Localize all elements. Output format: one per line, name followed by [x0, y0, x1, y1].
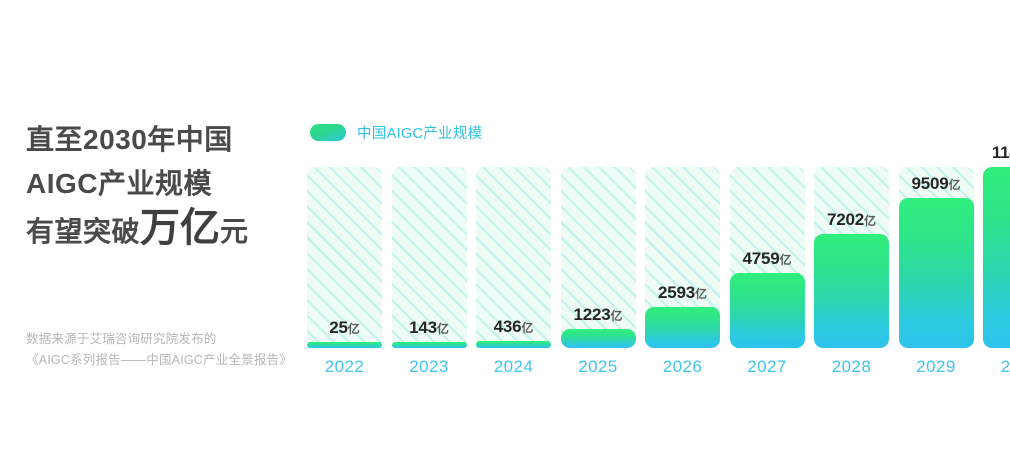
bar-column[interactable]: 11441亿2030 [983, 167, 1010, 348]
bar-column[interactable]: 1223亿2025 [561, 167, 636, 348]
headline-line-2: AIGC产业规模 [26, 162, 306, 206]
bar-chart-plot: 25亿2022143亿2023436亿20241223亿20252593亿202… [307, 110, 987, 382]
headline-block: 直至2030年中国 AIGC产业规模 有望突破万亿元 [26, 118, 306, 254]
bar-value-number: 436 [494, 317, 522, 336]
bar-value-label: 1223亿 [573, 306, 622, 323]
bar-value-number: 7202 [827, 210, 864, 229]
bar-fill[interactable] [392, 342, 467, 348]
headline-line-3-suffix: 元 [220, 216, 249, 247]
headline-line-3-prefix: 有望突破 [26, 216, 140, 247]
bar-value-label: 2593亿 [658, 284, 707, 301]
headline-line-3-emphasis: 万亿 [140, 206, 220, 250]
bar-value-unit: 亿 [348, 322, 360, 336]
axis-year-label: 2030 [1001, 357, 1010, 377]
bar-value-unit: 亿 [780, 253, 792, 267]
bar-value-unit: 亿 [949, 178, 961, 192]
bar-value-number: 1223 [573, 305, 610, 324]
bar-value-unit: 亿 [864, 214, 876, 228]
bar-value-unit: 亿 [695, 287, 707, 301]
bar-value-unit: 亿 [611, 309, 623, 323]
bar-value-number: 143 [409, 318, 437, 337]
source-note: 数据来源于艾瑞咨询研究院发布的 《AIGC系列报告——中国AIGC产业全景报告》 [26, 329, 316, 371]
aigc-market-size-infographic: 直至2030年中国 AIGC产业规模 有望突破万亿元 数据来源于艾瑞咨询研究院发… [0, 0, 1010, 450]
bar-fill[interactable] [899, 198, 974, 348]
bar-value-label: 143亿 [409, 319, 449, 336]
axis-year-label: 2029 [916, 357, 955, 377]
bar-value-number: 2593 [658, 283, 695, 302]
bar-fill[interactable] [645, 307, 720, 348]
bar-fill[interactable] [476, 341, 551, 348]
bar-value-label: 436亿 [494, 318, 534, 335]
axis-year-label: 2026 [663, 357, 702, 377]
source-note-line-1: 数据来源于艾瑞咨询研究院发布的 [26, 329, 316, 350]
bar-fill[interactable] [730, 273, 805, 348]
axis-year-label: 2022 [325, 357, 364, 377]
bar-fill[interactable] [307, 342, 382, 348]
bar-column[interactable]: 25亿2022 [307, 167, 382, 348]
bar-value-label: 11441亿 [992, 144, 1010, 161]
bar-fill[interactable] [814, 234, 889, 348]
axis-year-label: 2024 [494, 357, 533, 377]
axis-year-label: 2025 [578, 357, 617, 377]
axis-year-label: 2027 [747, 357, 786, 377]
bar-fill[interactable] [561, 329, 636, 348]
bar-value-label: 25亿 [329, 319, 360, 336]
bar-value-label: 9509亿 [911, 175, 960, 192]
bar-value-number: 4759 [742, 249, 779, 268]
axis-year-label: 2023 [409, 357, 448, 377]
headline-line-1: 直至2030年中国 [26, 118, 306, 162]
bar-value-label: 7202亿 [827, 211, 876, 228]
headline-line-3: 有望突破万亿元 [26, 206, 306, 254]
bar-value-number: 25 [329, 318, 348, 337]
bar-column[interactable]: 9509亿2029 [899, 167, 974, 348]
bar-value-label: 4759亿 [742, 250, 791, 267]
bar-column[interactable]: 2593亿2026 [645, 167, 720, 348]
bar-column[interactable]: 143亿2023 [392, 167, 467, 348]
bar-value-unit: 亿 [521, 321, 533, 335]
source-note-line-2: 《AIGC系列报告——中国AIGC产业全景报告》 [26, 350, 316, 371]
bar-column[interactable]: 7202亿2028 [814, 167, 889, 348]
bar-column[interactable]: 436亿2024 [476, 167, 551, 348]
bar-value-number: 11441 [992, 143, 1010, 162]
axis-year-label: 2028 [832, 357, 871, 377]
bar-fill[interactable] [983, 167, 1010, 348]
bar-value-number: 9509 [911, 174, 948, 193]
bar-value-unit: 亿 [437, 322, 449, 336]
bar-column[interactable]: 4759亿2027 [730, 167, 805, 348]
